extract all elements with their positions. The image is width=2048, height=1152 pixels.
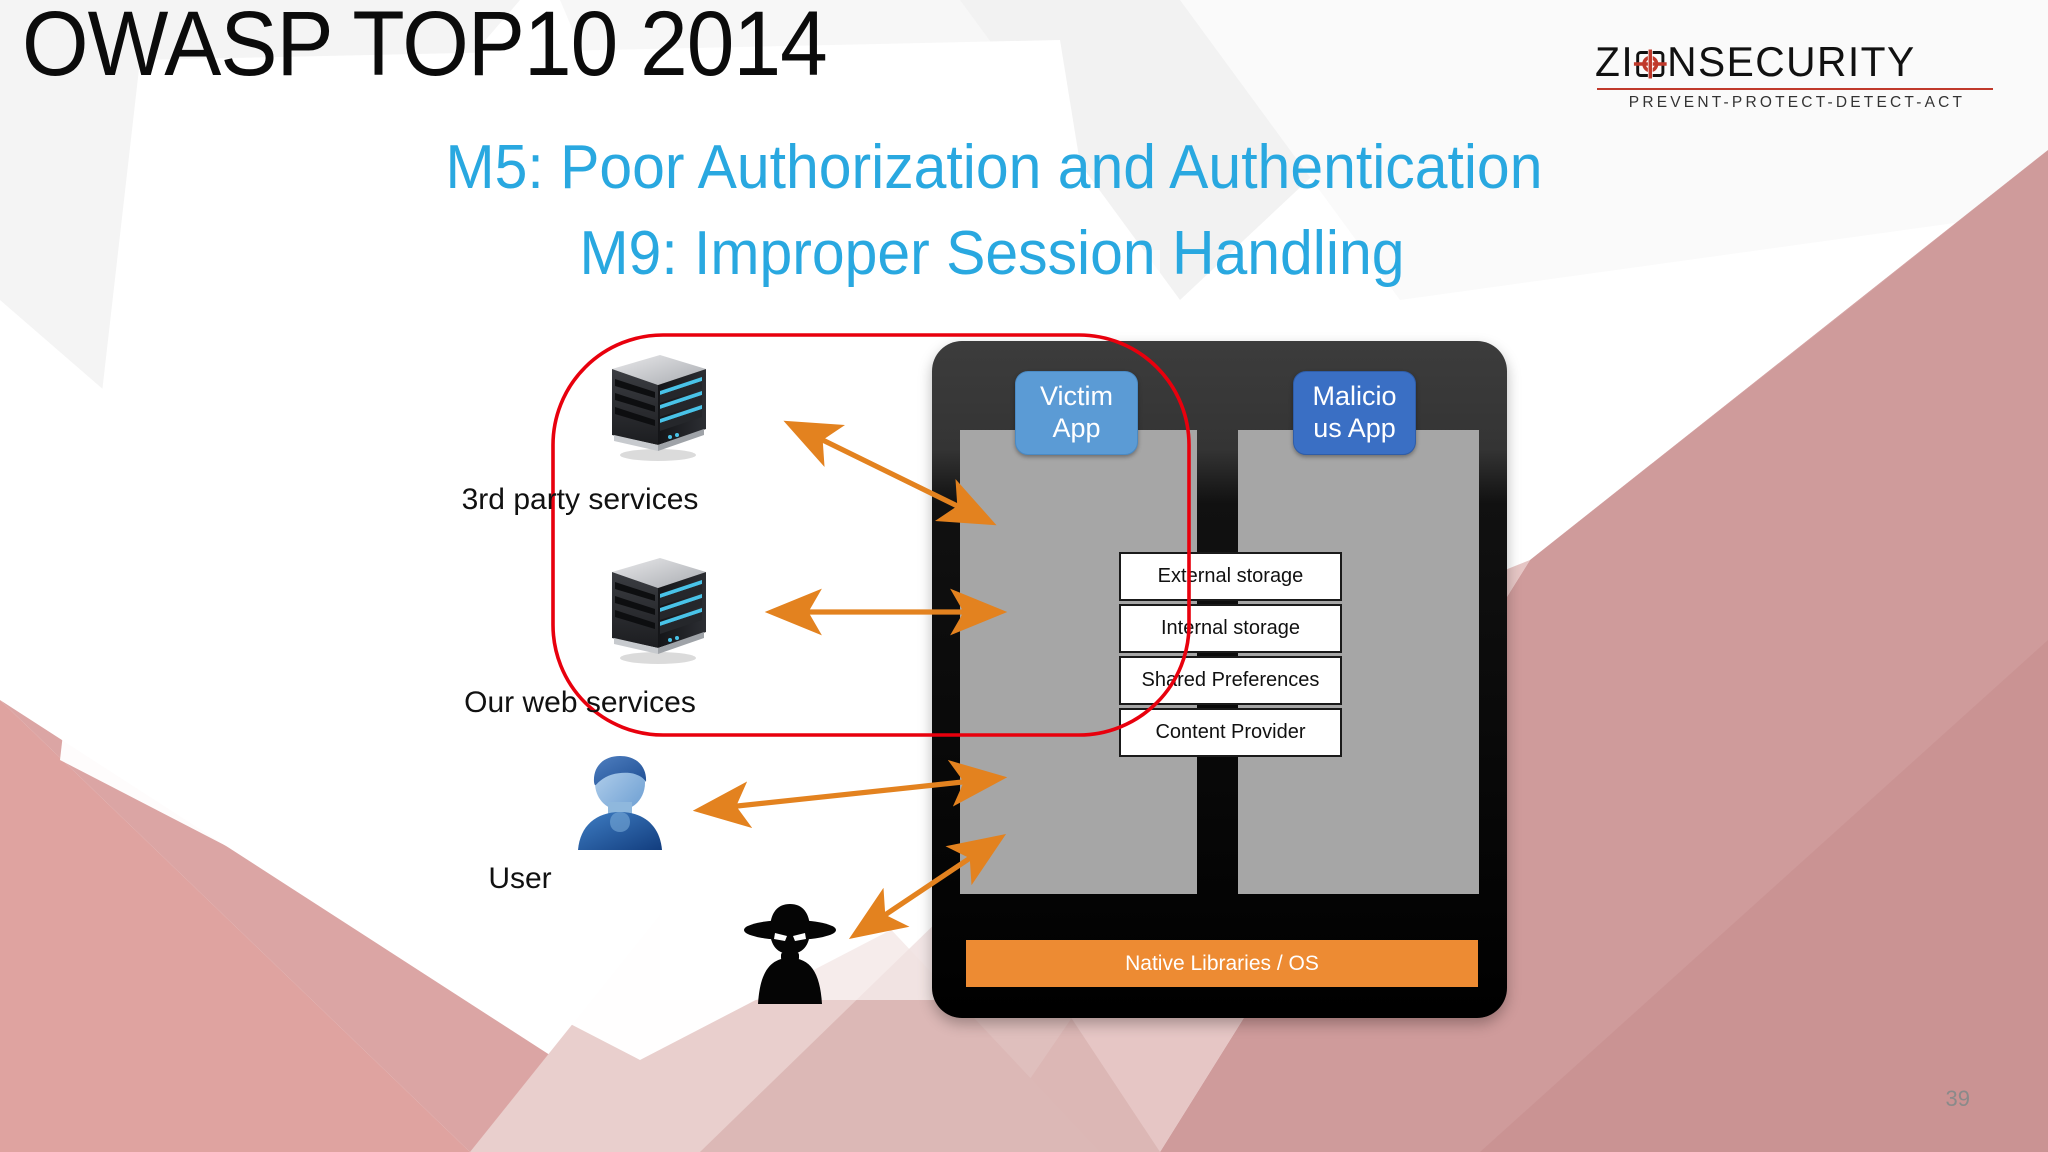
- storage-box-content-provider[interactable]: Content Provider: [1119, 708, 1342, 757]
- server-icon: [598, 345, 716, 463]
- victim-app-label: VictimApp: [1040, 381, 1113, 445]
- label-user: User: [440, 862, 600, 896]
- crosshair-icon: [1634, 41, 1667, 71]
- subtitle-m5: M5: Poor Authorization and Authenticatio…: [21, 132, 1967, 203]
- subtitle-m9: M9: Improper Session Handling: [19, 218, 1965, 289]
- storage-box-internal[interactable]: Internal storage: [1119, 604, 1342, 653]
- malicious-app-label: Malicious App: [1312, 381, 1396, 445]
- label-our-web-services: Our web services: [440, 686, 720, 720]
- user-icon: [574, 752, 666, 856]
- logo-tagline: PREVENT-PROTECT-DETECT-ACT: [1599, 94, 1995, 112]
- mobile-device-frame: VictimApp Malicious App External storage…: [932, 341, 1507, 1018]
- victim-app-box[interactable]: VictimApp: [1015, 371, 1138, 455]
- logo-wordmark-part2: NSECURITY: [1667, 38, 1916, 85]
- logo-wordmark: ZI NSECURITY: [1595, 38, 1983, 82]
- logo-wordmark-part1: ZI: [1595, 38, 1634, 85]
- page-title: OWASP TOP10 2014: [22, 0, 827, 98]
- brand-logo: ZI NSECURITY PREVENT-PROTECT-DETECT-ACT: [1595, 38, 1995, 114]
- slide-canvas: OWASP TOP10 2014 ZI NSECURITY PREVENT-PR…: [0, 0, 2048, 1152]
- label-third-party-services: 3rd party services: [440, 483, 720, 517]
- logo-divider: [1597, 88, 1993, 90]
- malicious-app-box[interactable]: Malicious App: [1293, 371, 1416, 455]
- storage-box-shared-preferences[interactable]: Shared Preferences: [1119, 656, 1342, 705]
- page-number: 39: [1946, 1086, 1970, 1112]
- server-icon: [598, 548, 716, 666]
- native-libraries-bar: Native Libraries / OS: [966, 940, 1478, 987]
- storage-box-external[interactable]: External storage: [1119, 552, 1342, 601]
- hacker-icon: [740, 900, 840, 1008]
